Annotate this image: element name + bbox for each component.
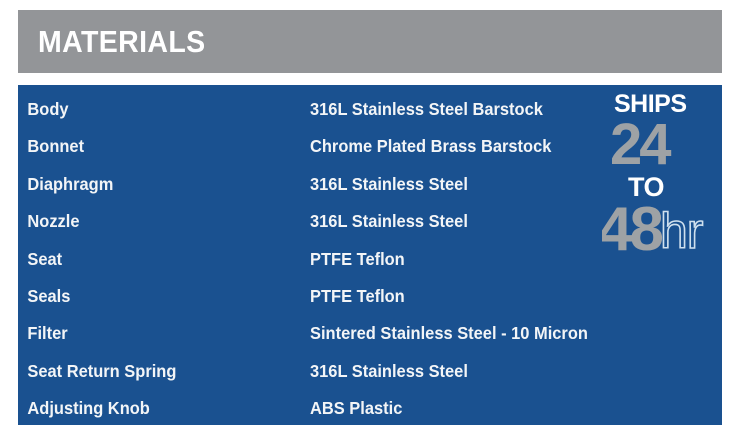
component-label: Body [18, 101, 292, 119]
page-title: MATERIALS [38, 26, 206, 57]
table-row: Adjusting Knob ABS Plastic [18, 390, 722, 425]
material-value: Sintered Stainless Steel - 10 Micron [310, 325, 588, 343]
component-label: Diaphragm [18, 176, 292, 194]
component-label: Filter [18, 325, 292, 343]
material-value: PTFE Teflon [310, 288, 405, 306]
component-label: Seals [18, 288, 292, 306]
component-label: Bonnet [18, 138, 292, 156]
table-row: Seals PTFE Teflon [18, 278, 722, 315]
material-value: 316L Stainless Steel [310, 176, 468, 194]
material-value: 316L Stainless Steel [310, 213, 468, 231]
material-value: Chrome Plated Brass Barstock [310, 138, 551, 156]
component-label: Adjusting Knob [18, 400, 292, 418]
table-row: Filter Sintered Stainless Steel - 10 Mic… [18, 315, 722, 352]
material-value: ABS Plastic [310, 400, 402, 418]
table-row: Nozzle 316L Stainless Steel [18, 203, 722, 240]
material-value: 316L Stainless Steel [310, 363, 468, 381]
materials-table-panel: Body 316L Stainless Steel Barstock Bonne… [18, 85, 722, 425]
component-label: Seat [18, 251, 292, 269]
table-row: Bonnet Chrome Plated Brass Barstock [18, 128, 722, 165]
table-row: Diaphragm 316L Stainless Steel [18, 166, 722, 203]
table-row: Seat Return Spring 316L Stainless Steel [18, 353, 722, 390]
component-label: Nozzle [18, 213, 292, 231]
materials-spec-card: MATERIALS Body 316L Stainless Steel Bars… [0, 0, 736, 432]
component-label: Seat Return Spring [18, 363, 292, 381]
material-value: 316L Stainless Steel Barstock [310, 101, 543, 119]
table-row: Seat PTFE Teflon [18, 241, 722, 278]
materials-header-bar: MATERIALS [18, 10, 722, 73]
materials-table-rows: Body 316L Stainless Steel Barstock Bonne… [18, 85, 722, 425]
material-value: PTFE Teflon [310, 251, 405, 269]
table-row: Body 316L Stainless Steel Barstock [18, 91, 722, 128]
